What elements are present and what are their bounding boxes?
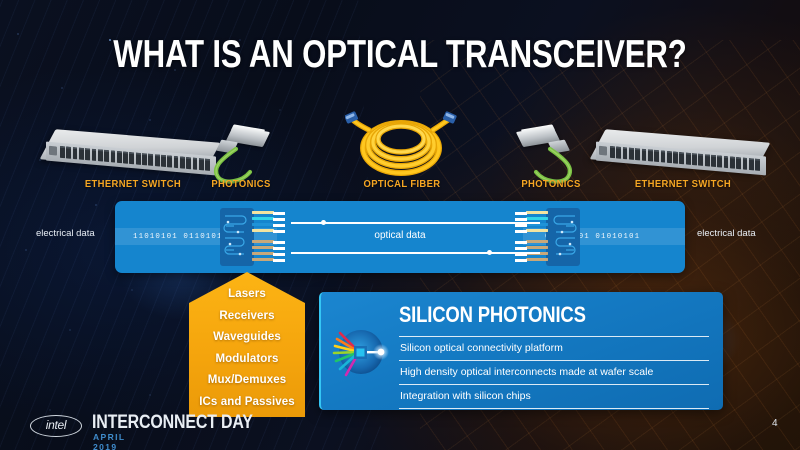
ethernet-switch-right-image bbox=[586, 132, 776, 180]
list-item: Receivers bbox=[189, 306, 305, 328]
optical-transceiver-left-image bbox=[206, 126, 274, 186]
switch-badge bbox=[49, 146, 57, 156]
list-item: Mux/Demuxes bbox=[189, 370, 305, 392]
data-flow-bar: 11010101 01101011 01010101 01010101 bbox=[115, 201, 685, 273]
silicon-photonics-prism-icon bbox=[329, 320, 393, 384]
event-date: APRIL 2019 bbox=[93, 432, 125, 450]
panel-bullet: Silicon optical connectivity platform bbox=[399, 336, 709, 360]
panel-bullet: Integration with silicon chips bbox=[399, 384, 709, 409]
intel-logo: intel bbox=[30, 415, 82, 437]
electrical-data-label-left: electrical data bbox=[36, 228, 95, 239]
label-optical-fiber: OPTICAL FIBER bbox=[344, 178, 459, 190]
panel-title: SILICON PHOTONICS bbox=[399, 302, 586, 328]
ethernet-switch-left-image bbox=[36, 132, 226, 180]
page-title: WHAT IS AN OPTICAL TRANSCEIVER? bbox=[80, 33, 720, 77]
label-photonics-right: PHOTONICS bbox=[502, 178, 601, 190]
optical-transceiver-right-image bbox=[512, 126, 580, 186]
optical-link-bottom bbox=[291, 252, 540, 254]
optical-link-top bbox=[291, 222, 540, 224]
label-ethernet-switch-left: ETHERNET SWITCH bbox=[66, 178, 201, 190]
silicon-photonics-panel: SILICON PHOTONICS Silicon optical connec… bbox=[319, 292, 723, 410]
panel-bullet: High density optical interconnects made … bbox=[399, 360, 709, 384]
event-name: INTERCONNECT DAY bbox=[92, 412, 253, 434]
pin-group-receive bbox=[252, 240, 286, 265]
optical-link-dot-bottom bbox=[487, 250, 492, 255]
components-list: Lasers Receivers Waveguides Modulators M… bbox=[189, 284, 305, 413]
slide-canvas: WHAT IS AN OPTICAL TRANSCEIVER? bbox=[0, 0, 800, 450]
list-item: Waveguides bbox=[189, 327, 305, 349]
components-arrow: Lasers Receivers Waveguides Modulators M… bbox=[189, 272, 305, 417]
optical-fiber-coil-image bbox=[345, 108, 457, 180]
page-number: 4 bbox=[772, 418, 778, 429]
panel-bullet-list: Silicon optical connectivity platform Hi… bbox=[399, 336, 709, 409]
list-item: Modulators bbox=[189, 349, 305, 371]
electrical-data-label-right: electrical data bbox=[697, 228, 756, 239]
label-photonics-left: PHOTONICS bbox=[192, 178, 291, 190]
label-ethernet-switch-right: ETHERNET SWITCH bbox=[616, 178, 751, 190]
switch-badge bbox=[599, 146, 607, 156]
optical-data-label: optical data bbox=[115, 230, 685, 241]
list-item: ICs and Passives bbox=[189, 392, 305, 414]
optical-link-dot-top bbox=[321, 220, 326, 225]
